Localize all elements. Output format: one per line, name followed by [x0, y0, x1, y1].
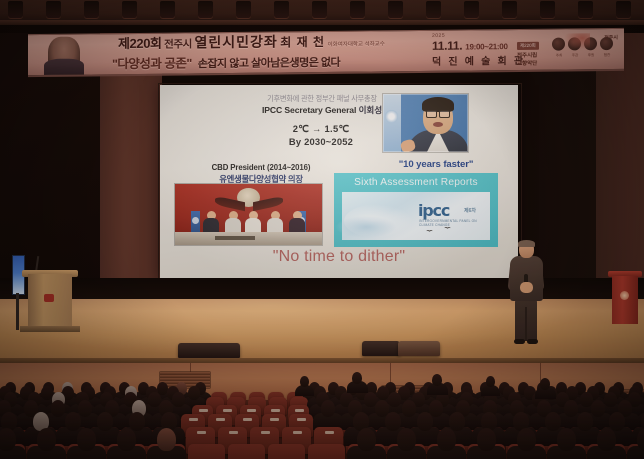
- spotlight-icon: [540, 1, 555, 18]
- banner-program: 열린시민강좌: [194, 34, 277, 51]
- seat-number-tag: [297, 418, 306, 421]
- audience-member-head: [609, 412, 625, 431]
- spotlight-icon: [616, 1, 631, 18]
- auditorium-seat: [308, 444, 345, 459]
- spotlight-icon: [160, 1, 175, 18]
- slide-ipcc-portrait-photo: [382, 93, 469, 153]
- banner-org-line1: 전주시립: [517, 53, 539, 60]
- audience-member-head: [402, 400, 416, 417]
- sponsor-label: 주최: [551, 53, 567, 58]
- presenter-shoe: [527, 339, 538, 344]
- spotlight-icon: [388, 1, 403, 18]
- panel-member: [267, 211, 283, 233]
- audience-member-head: [0, 428, 16, 451]
- presenter-hair: [518, 240, 535, 247]
- audience-member-head: [129, 412, 145, 431]
- banner-time: 19:00~21:00: [465, 42, 507, 51]
- sponsor-label: 주관: [567, 53, 583, 58]
- banner-title-quoted: "다양성과 공존": [112, 56, 192, 71]
- audience-member-head: [591, 400, 605, 417]
- audience-member-head: [397, 428, 416, 451]
- presenter-legs: [515, 299, 537, 341]
- seat-number-tag: [271, 409, 280, 412]
- panel-member: [203, 211, 219, 233]
- audience-member-head: [597, 428, 616, 451]
- audience-member-head: [604, 392, 617, 407]
- audience-member-head: [117, 428, 136, 451]
- stage-floor-light: [0, 299, 644, 365]
- banner-subtitle: 손잡지 않고 살아남은생명은 없다: [198, 57, 340, 70]
- banner-date-value: 11.11.: [432, 39, 462, 53]
- standing-presenter: [508, 241, 544, 344]
- podium-display-stand: [16, 293, 19, 330]
- slide-ipcc-person: 이회성: [359, 105, 382, 115]
- banner-series: 제220회: [118, 36, 162, 51]
- sponsor-label: 협찬: [599, 53, 615, 58]
- ipcc-logo-card: ipcc INTERGOVERNMENTAL PANEL ON CLIMATE …: [342, 192, 490, 240]
- un-flag-left: [191, 211, 200, 233]
- banner-leaf-graphic: [564, 33, 590, 49]
- spotlight-icon: [46, 1, 61, 18]
- panel-member: [289, 211, 305, 233]
- audience-member-head: [449, 412, 465, 431]
- cbd-panel-table: [175, 232, 322, 245]
- ipcc-wordmark-sub: INTERGOVERNMENTAL PANEL ON CLIMATE CHANG…: [419, 219, 490, 227]
- spotlight-icon: [122, 1, 137, 18]
- seat-number-tag: [229, 431, 238, 434]
- banner-organizer-block: 제220회 전주시립 교향악단: [517, 34, 539, 68]
- slide-sixth-assessment-panel: Sixth Assessment Reports ipcc INTERGOVER…: [334, 173, 498, 247]
- audience-member-head: [417, 412, 433, 431]
- audience-member-head: [557, 428, 576, 451]
- spotlight-icon: [502, 1, 517, 18]
- audience-member-head: [77, 428, 96, 451]
- audience-member-head: [540, 378, 550, 390]
- audience-member-head: [577, 412, 593, 431]
- audience-member-head: [65, 412, 81, 431]
- podium-base: [20, 326, 80, 332]
- ipcc-report-number-kr: 제6차: [464, 207, 476, 214]
- spotlight-icon: [464, 1, 479, 18]
- bird-icon: [444, 227, 451, 231]
- audience-member-head: [357, 428, 376, 451]
- wooden-podium: [28, 274, 72, 330]
- banner-date: 11.11. 19:00~21:00: [432, 38, 525, 53]
- seat-number-tag: [270, 418, 279, 421]
- audience-member-head: [51, 400, 65, 417]
- audience-member-head: [172, 392, 185, 407]
- audience-member-head: [78, 400, 92, 417]
- spotlight-icon: [312, 1, 327, 18]
- banner-subline: "다양성과 공존" 손잡지 않고 살아남은생명은 없다: [112, 51, 340, 72]
- presenter-hands: [520, 282, 533, 293]
- audience-member-head: [486, 376, 495, 387]
- seat-number-tag: [261, 431, 270, 434]
- slide-ipcc-role-en-text: IPCC Secretary General: [262, 105, 356, 115]
- banner-venue: 덕 진 예 술 회 관: [432, 52, 525, 68]
- red-lectern: [612, 276, 638, 324]
- audience-member-head: [352, 372, 362, 384]
- audience-member-head: [517, 428, 536, 451]
- seat-number-tag: [295, 409, 304, 412]
- banner-speaker-photo: [48, 37, 80, 75]
- auditorium-photo: 제220회 전주시 열린시민강좌 최 재 천 이화여자대학교 석좌교수 "다양성…: [0, 0, 644, 459]
- red-lectern-emblem: [620, 291, 629, 300]
- spotlight-icon: [426, 1, 441, 18]
- audience-member-head: [37, 428, 56, 451]
- audience-member-head: [545, 412, 561, 431]
- floor-monitor: [178, 343, 240, 358]
- banner-badge: 제220회: [517, 42, 539, 50]
- spotlight-icon: [350, 1, 365, 18]
- slide-quote-bottom: "No time to dither": [204, 248, 474, 266]
- floor-monitor: [362, 341, 400, 356]
- panel-member: [225, 211, 241, 233]
- spotlight-icon: [236, 1, 251, 18]
- floor-monitor: [398, 341, 440, 356]
- seat-number-tag: [189, 418, 198, 421]
- audience-member-head: [97, 412, 113, 431]
- banner-city: 전주시: [164, 38, 192, 50]
- banner-speaker-affiliation: 이화여자대학교 석좌교수: [328, 41, 385, 48]
- bird-icon: [426, 230, 433, 234]
- podium-emblem: [44, 294, 54, 302]
- panel-member: [245, 211, 261, 233]
- seat-number-tag: [247, 409, 256, 412]
- banner-date-block: 2025 11.11. 19:00~21:00 덕 진 예 술 회 관: [432, 32, 525, 68]
- portrait-frame: [383, 94, 468, 152]
- slide-quote-faster: "10 years faster": [356, 159, 516, 170]
- audience-member-head: [300, 376, 309, 387]
- audience-member-head: [321, 400, 335, 417]
- audience-member-head: [564, 400, 578, 417]
- seat-number-tag: [325, 431, 334, 434]
- audience-member-head: [437, 428, 456, 451]
- audience-member-head: [385, 412, 401, 431]
- presenter-shoe: [514, 339, 525, 344]
- spotlight-icon: [578, 1, 593, 18]
- seat-number-tag: [243, 418, 252, 421]
- audience-member-head: [432, 374, 442, 386]
- cloud-shadow: [336, 216, 396, 238]
- auditorium-seat: [188, 444, 225, 459]
- auditorium-seat: [228, 444, 265, 459]
- spotlight-icon: [84, 1, 99, 18]
- ipcc-wordmark: ipcc: [418, 203, 449, 218]
- audience-member-head: [188, 386, 200, 400]
- auditorium-seat: [268, 444, 305, 459]
- projection-screen: 기후변화에 관한 정부간 패널 사무총장 IPCC Secretary Gene…: [160, 85, 518, 280]
- overhead-event-banner: 제220회 전주시 열린시민강좌 최 재 천 이화여자대학교 석좌교수 "다양성…: [28, 28, 624, 77]
- spotlight-icon: [198, 1, 213, 18]
- sponsor-label: 후원: [583, 53, 599, 58]
- seat-number-tag: [199, 409, 208, 412]
- slide-cbd-role-en: CBD President (2014~2016): [176, 163, 346, 172]
- banner-org-line2: 교향악단: [517, 61, 539, 68]
- audience-member-head: [157, 428, 176, 451]
- spotlight-icon: [274, 1, 289, 18]
- audience-member-head: [388, 392, 401, 407]
- banner-city-logo: 전주시: [604, 34, 618, 41]
- slide-report-title: Sixth Assessment Reports: [334, 177, 498, 188]
- stage-front-shadow: [0, 278, 644, 300]
- banner-speaker-name: 최 재 천: [280, 35, 325, 49]
- audience-member-head: [477, 428, 496, 451]
- seat-number-tag: [216, 418, 225, 421]
- seat-number-tag: [223, 409, 232, 412]
- spotlight-icon: [8, 1, 23, 18]
- slide-cbd-conference-photo: [174, 183, 323, 246]
- seat-number-tag: [293, 431, 302, 434]
- seat-number-tag: [197, 431, 206, 434]
